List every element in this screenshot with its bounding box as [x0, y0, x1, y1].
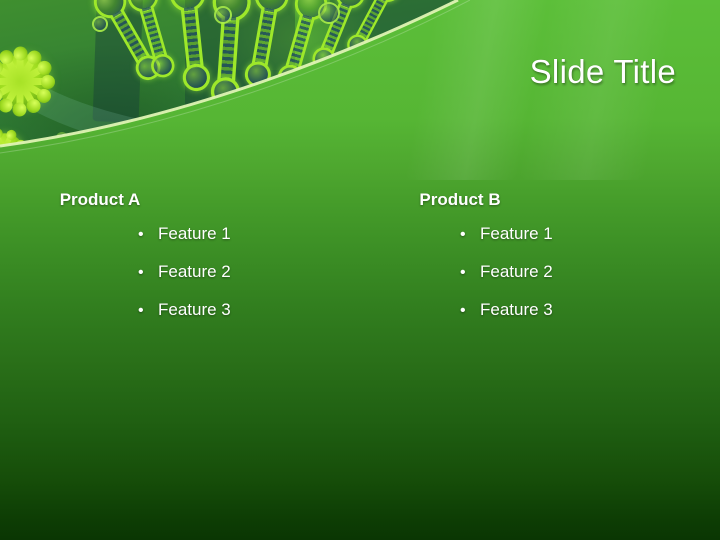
bullet-icon: • [138, 303, 158, 319]
list-item: • Feature 1 [0, 224, 360, 244]
bullet-icon: • [138, 265, 158, 281]
column-heading-b: Product B [360, 190, 720, 210]
list-item-label: Feature 2 [480, 262, 553, 282]
bullet-icon: • [138, 227, 158, 243]
column-heading-a: Product A [0, 190, 360, 210]
list-item: • Feature 1 [360, 224, 720, 244]
bullet-icon: • [460, 227, 480, 243]
capsid-dot [92, 16, 108, 32]
coronavirus-particle-icon [0, 32, 70, 128]
list-item-label: Feature 1 [480, 224, 553, 244]
slide-canvas: Slide Title Product A • Feature 1 • Feat… [0, 0, 720, 540]
list-item-label: Feature 3 [158, 300, 231, 320]
bullet-icon: • [460, 303, 480, 319]
feature-list-a: • Feature 1 • Feature 2 • Feature 3 [0, 224, 360, 320]
list-item-label: Feature 2 [158, 262, 231, 282]
column-product-b: Product B • Feature 1 • Feature 2 • Feat… [360, 190, 720, 338]
page-title: Slide Title [530, 53, 676, 91]
list-item-label: Feature 3 [480, 300, 553, 320]
column-product-a: Product A • Feature 1 • Feature 2 • Feat… [0, 190, 360, 338]
list-item: • Feature 3 [0, 300, 360, 320]
list-item: • Feature 2 [360, 262, 720, 282]
list-item: • Feature 2 [0, 262, 360, 282]
capsid-dot [318, 2, 340, 24]
list-item: • Feature 3 [360, 300, 720, 320]
list-item-label: Feature 1 [158, 224, 231, 244]
capsid-dot [214, 6, 232, 24]
bullet-icon: • [460, 265, 480, 281]
content-columns: Product A • Feature 1 • Feature 2 • Feat… [0, 190, 720, 338]
feature-list-b: • Feature 1 • Feature 2 • Feature 3 [360, 224, 720, 320]
